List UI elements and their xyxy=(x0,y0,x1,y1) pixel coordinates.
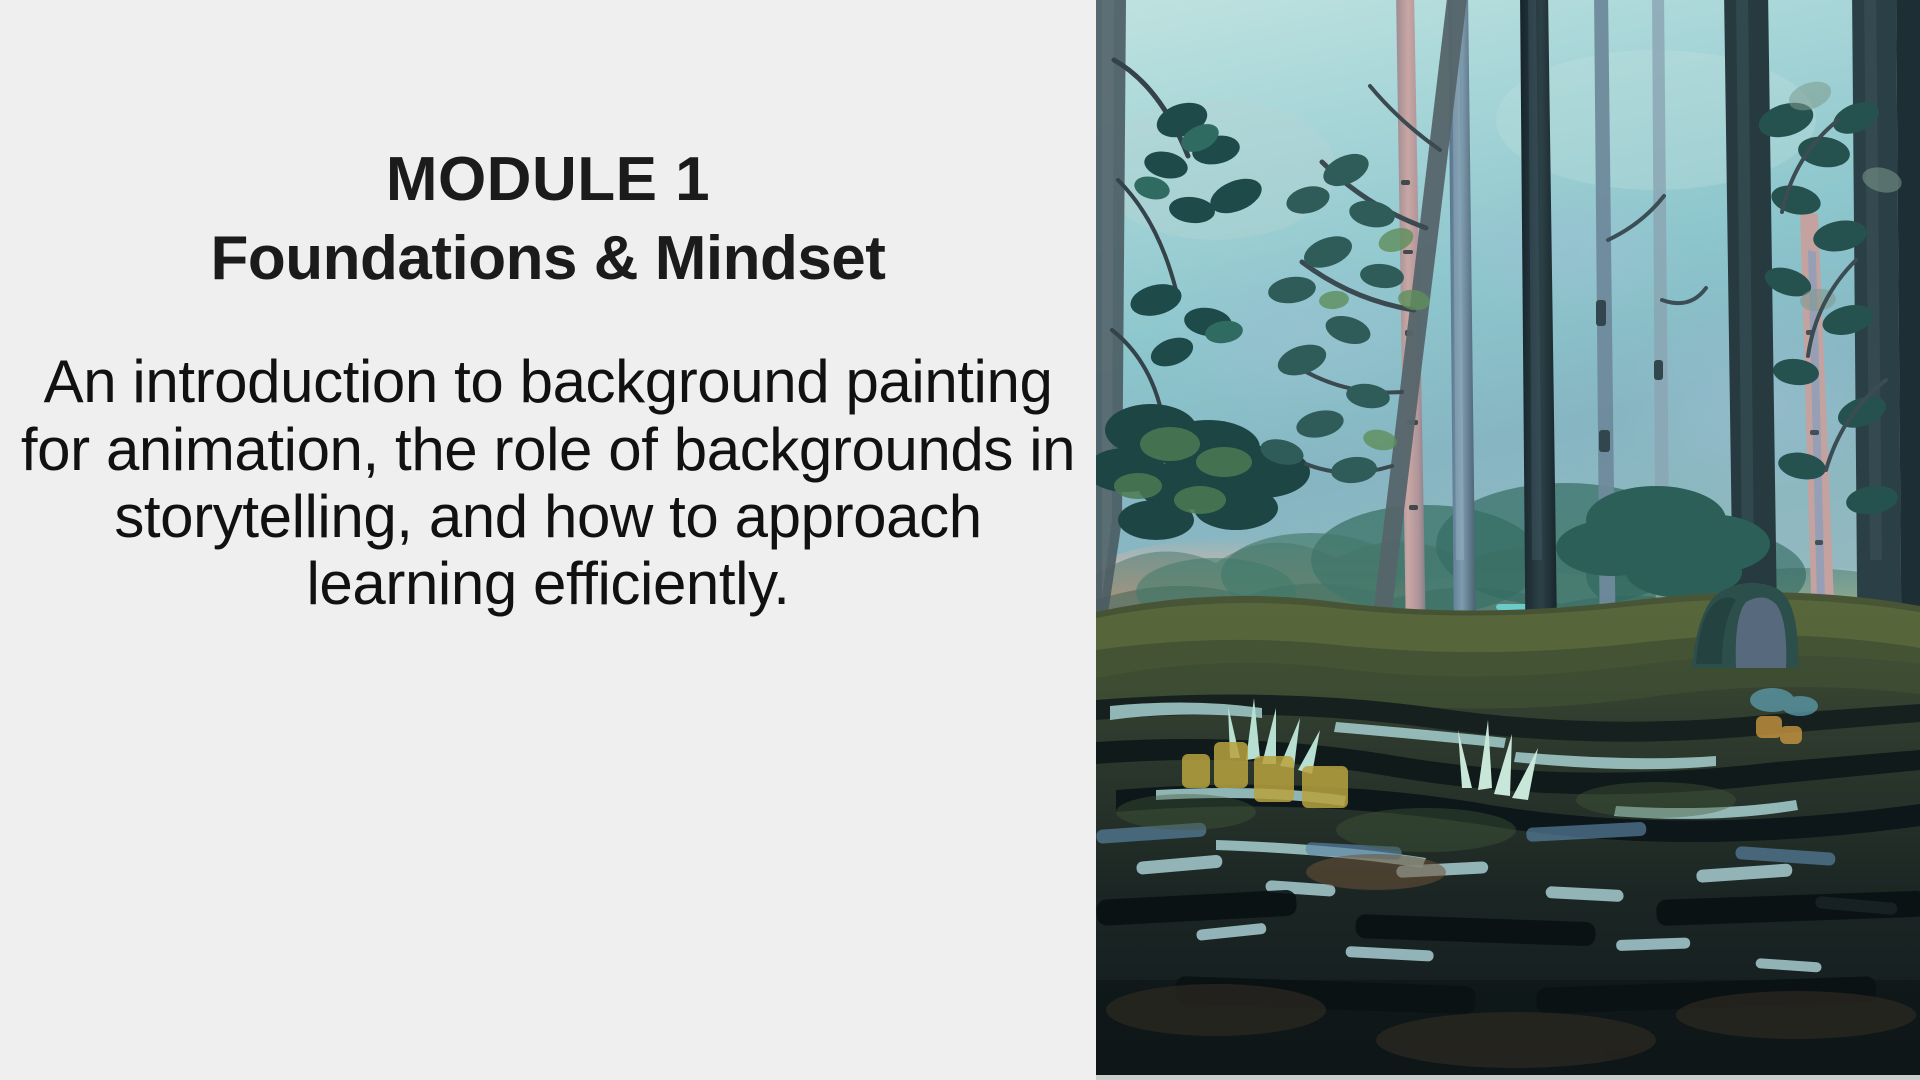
panel-bottom-edge xyxy=(1096,1075,1920,1080)
bottom-vignette xyxy=(1096,980,1920,1080)
module-number: MODULE 1 xyxy=(0,148,1096,211)
forest-illustration xyxy=(1096,0,1920,1080)
artwork-panel xyxy=(1096,0,1920,1080)
slide-root: MODULE 1 Foundations & Mindset An introd… xyxy=(0,0,1920,1080)
text-panel: MODULE 1 Foundations & Mindset An introd… xyxy=(0,0,1096,1080)
page-title: MODULE 1 Foundations & Mindset xyxy=(0,148,1096,290)
module-subtitle: Foundations & Mindset xyxy=(0,227,1096,290)
module-description: An introduction to background painting f… xyxy=(18,290,1078,617)
